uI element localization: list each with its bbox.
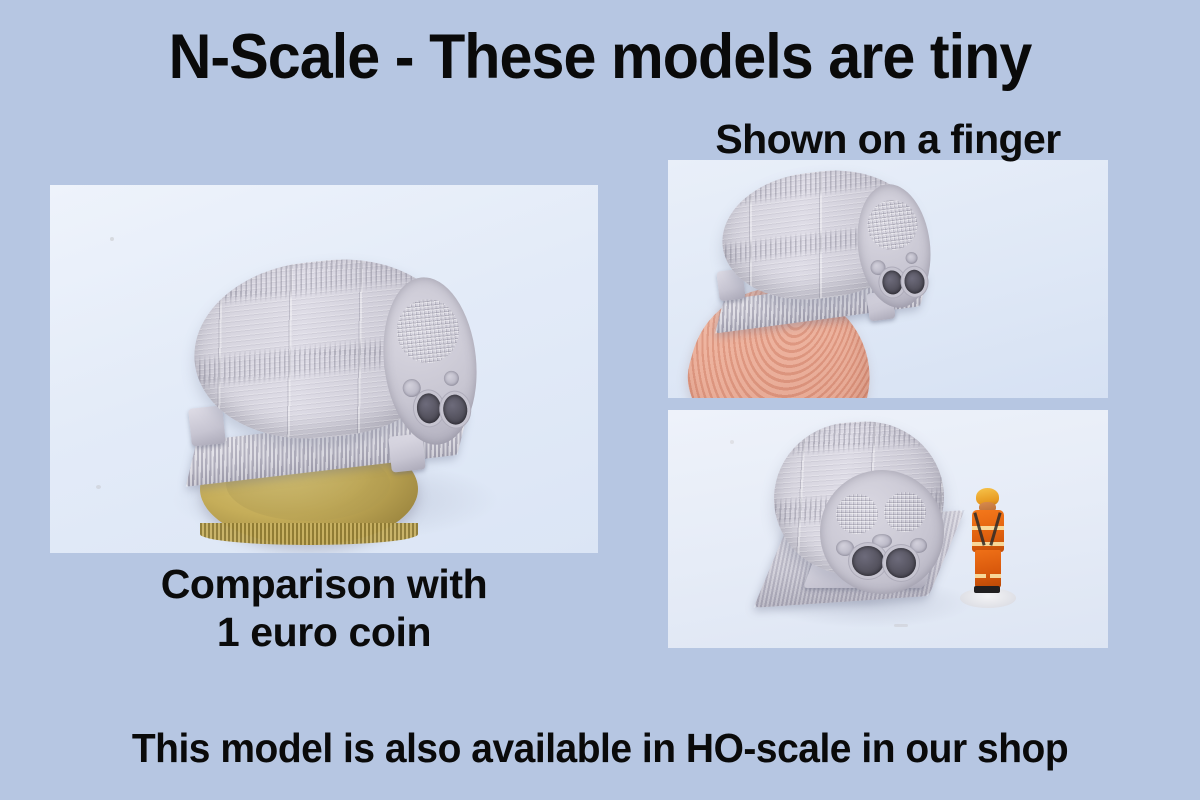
- tank-model: [168, 247, 498, 497]
- worker-figure: [958, 488, 1018, 610]
- shop-caption: This model is also available in HO-scale…: [30, 724, 1170, 772]
- page-title: N-Scale - These models are tiny: [36, 22, 1164, 92]
- inspection-port-right: [910, 538, 927, 553]
- coin-caption-line2: 1 euro coin: [50, 608, 598, 656]
- tube-sheet-grid-right: [884, 492, 926, 532]
- outlet-nozzle-right: [442, 393, 469, 425]
- tube-sheet-grid-left: [836, 494, 878, 534]
- tank-model: [708, 166, 948, 346]
- hi-vis-trousers: [975, 550, 1001, 588]
- figure-boots: [974, 586, 1000, 593]
- finger-photo: [668, 160, 1108, 398]
- outlet-nozzle-right: [903, 269, 926, 295]
- tank-model: [764, 418, 964, 618]
- coin-milled-edge: [200, 523, 418, 545]
- poster-canvas: N-Scale - These models are tiny: [0, 0, 1200, 800]
- saddle-block-left: [188, 405, 226, 446]
- tube-sheet-grid: [865, 197, 921, 253]
- inspection-port: [905, 251, 918, 264]
- dust-speck: [110, 237, 114, 241]
- inspection-port-left: [836, 540, 854, 556]
- inspection-port-center: [872, 534, 892, 548]
- reflective-band-waist: [972, 542, 1004, 546]
- reflective-band-leg-left: [975, 574, 986, 578]
- tube-sheet-grid: [394, 296, 462, 366]
- outlet-nozzle-left: [852, 546, 884, 576]
- inspection-port: [402, 378, 422, 398]
- finger-caption: Shown on a finger: [668, 116, 1108, 162]
- figure-scale-photo: [668, 410, 1108, 648]
- reflective-band-leg-right: [990, 574, 1001, 578]
- outlet-nozzle-left: [881, 269, 904, 295]
- tank-end-face: [820, 470, 944, 594]
- coin-caption: Comparison with 1 euro coin: [50, 560, 598, 656]
- inspection-port: [443, 370, 459, 386]
- coin-caption-line1: Comparison with: [50, 560, 598, 608]
- coin-comparison-photo: [50, 185, 598, 553]
- dust-speck: [730, 440, 734, 444]
- outlet-nozzle-left: [415, 392, 442, 424]
- dust-speck: [96, 485, 101, 489]
- outlet-nozzle-right: [886, 548, 916, 578]
